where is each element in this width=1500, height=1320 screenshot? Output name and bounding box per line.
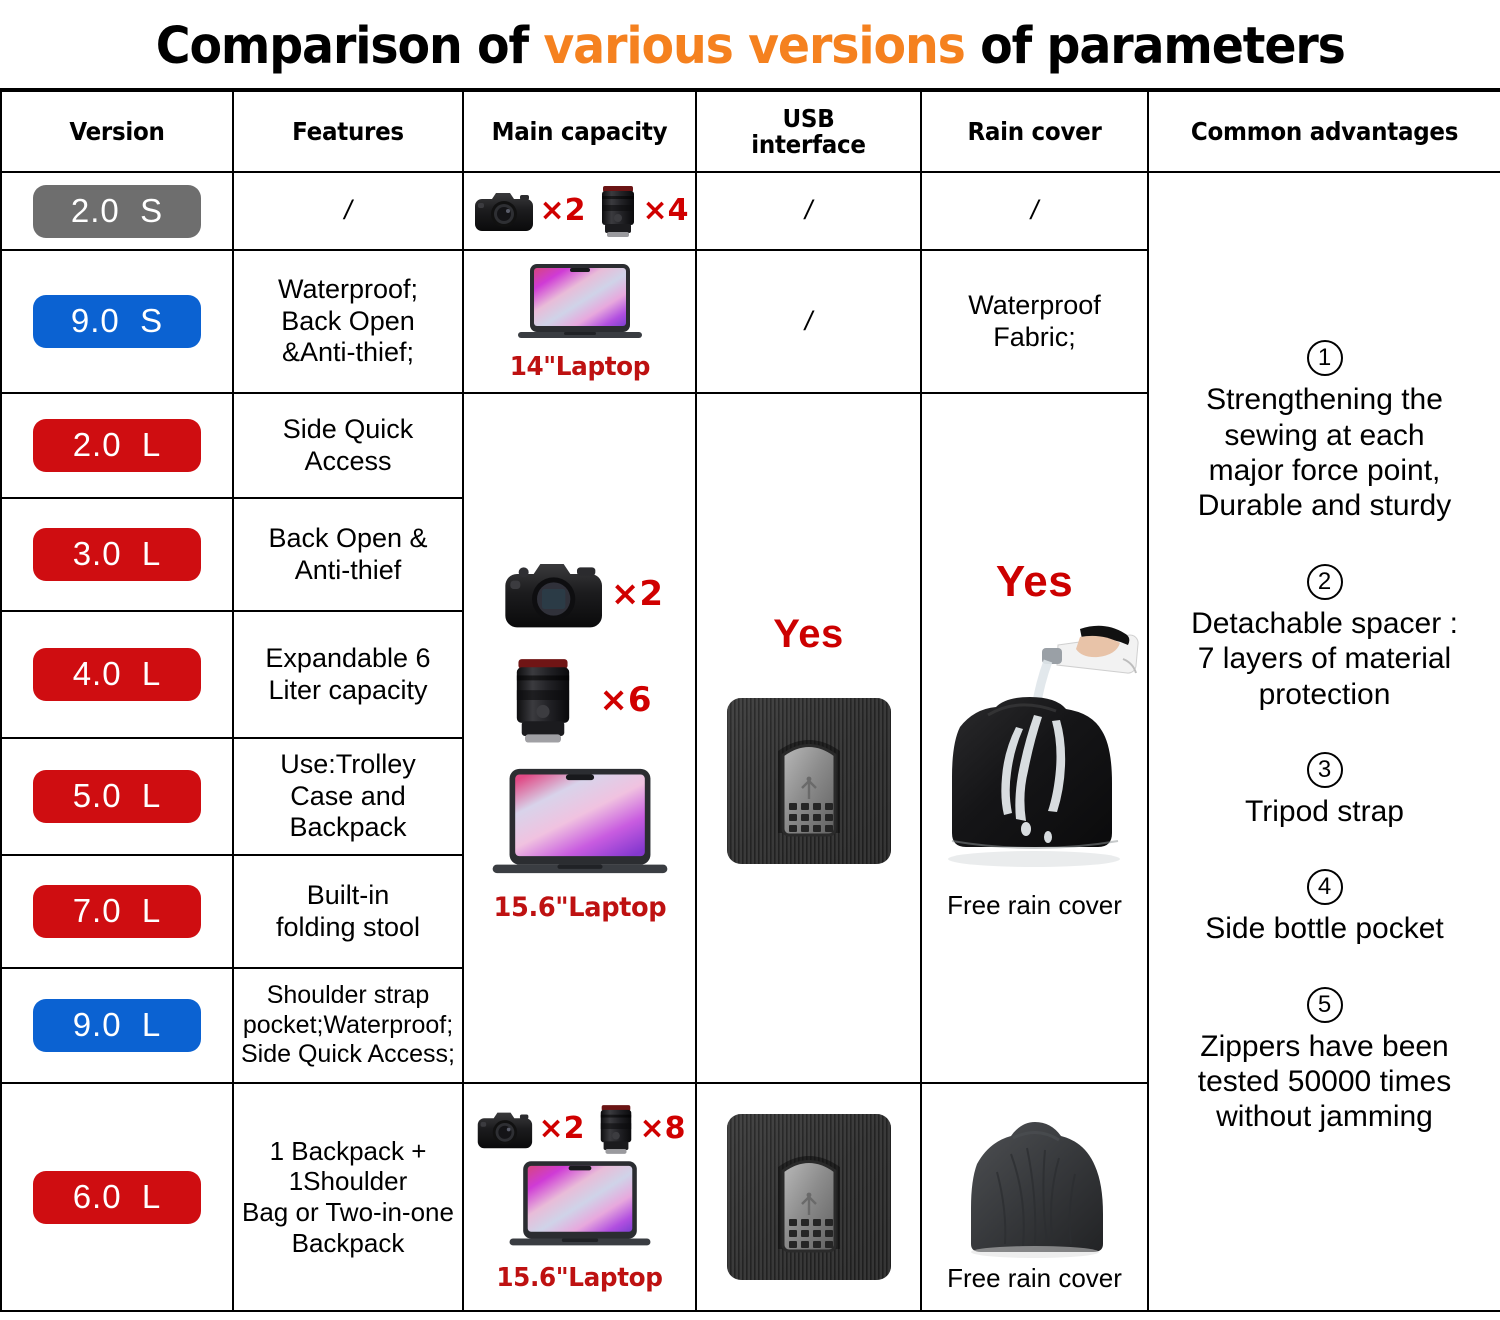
features-cell: Shoulder strap pocket;Waterproof; Side Q… [233,968,463,1083]
version-badge: 9.0 L [33,999,201,1052]
advantage-number: 3 [1307,752,1343,788]
column-header-version: Version [10,90,223,172]
advantage-number: 4 [1307,869,1343,905]
version-badge: 6.0 L [33,1171,201,1224]
advantage-number: 1 [1307,340,1343,376]
advantage-item: 4 Side bottle pocket [1152,869,1497,946]
version-cell: 9.0 S [1,250,233,393]
advantage-item: 2 Detachable spacer : 7 layers of materi… [1152,564,1497,712]
advantage-text: Zippers have been tested 50000 times wit… [1152,1029,1497,1135]
capacity-note: 15.6"Laptop [493,892,666,923]
usb-port-cover-photo [726,697,892,865]
laptop-icon [486,766,674,890]
usb-yes-label: Yes [773,612,843,657]
capacity-item: ×2 [473,1107,584,1152]
features-cell: 1 Backpack + 1Shoulder Bag or Two-in-one… [233,1083,463,1311]
table-row: 2.0 S / [1,172,1500,250]
version-cell: 7.0 L [1,855,233,968]
usb-cell: / [696,250,921,393]
lens-icon [595,1101,637,1157]
version-badge: 7.0 L [33,885,201,938]
advantage-number: 2 [1307,564,1343,600]
rain-cover-photo [951,1102,1119,1262]
capacity-qty: ×2 [538,1114,584,1144]
advantages-cell: 1 Strengthening the sewing at each major… [1148,172,1500,1311]
capacity-item: ×4 [596,182,689,240]
capacity-cell: ×2 [463,172,696,250]
usb-port-cover-photo [726,1113,892,1281]
capacity-item: ×2 [470,187,585,235]
rain-cover-water-photo [930,623,1140,873]
version-cell: 9.0 L [1,968,233,1083]
usb-cell-merged: Yes [696,393,921,1083]
features-cell: Back Open & Anti-thief [233,498,463,611]
column-header-features: Features [242,90,454,172]
capacity-note: 14"Laptop [509,352,649,382]
version-badge: 2.0 L [33,419,201,472]
rain-cell: Free rain cover [921,1083,1148,1311]
advantage-text: Strengthening the sewing at each major f… [1152,382,1497,524]
camera-icon [470,187,536,235]
capacity-note: 15.6"Laptop [496,1263,662,1293]
advantage-text: Tripod strap [1152,794,1497,829]
version-cell: 3.0 L [1,498,233,611]
camera-icon [473,1107,535,1152]
version-badge: 4.0 L [33,648,201,701]
title-part1: Comparison of [155,17,543,76]
advantage-item: 5 Zippers have been tested 50000 times w… [1152,987,1497,1135]
capacity-item: ×2 [496,554,663,634]
version-cell: 6.0 L [1,1083,233,1311]
rain-cover-note: Free rain cover [947,891,1122,920]
lens-icon [596,182,640,240]
rain-cell: / [921,172,1148,250]
advantage-text: Detachable spacer : 7 layers of material… [1152,606,1497,712]
version-cell: 2.0 S [1,172,233,250]
advantage-item: 3 Tripod strap [1152,752,1497,829]
version-cell: 5.0 L [1,738,233,855]
version-cell: 2.0 L [1,393,233,498]
title-part2: of parameters [964,17,1344,76]
version-cell: 4.0 L [1,611,233,738]
header-row: Version Features Main capacity USB inter… [1,90,1500,172]
column-header-advantages: Common advantages [1162,90,1487,172]
advantage-text: Side bottle pocket [1152,911,1497,946]
features-cell: Expandable 6 Liter capacity [233,611,463,738]
column-header-capacity: Main capacity [472,90,686,172]
rain-cover-note: Free rain cover [947,1264,1122,1293]
column-header-rain: Rain cover [930,90,1139,172]
features-cell: Waterproof; Back Open &Anti-thief; [233,250,463,393]
rain-yes-label: Yes [996,557,1073,607]
advantage-number: 5 [1307,987,1343,1023]
features-cell: Use:Trolley Case and Backpack [233,738,463,855]
rain-cell-merged: Yes [921,393,1148,1083]
capacity-qty: ×2 [539,196,585,226]
capacity-cell: ×2 [463,1083,696,1311]
version-badge: 2.0 S [33,185,201,238]
version-badge: 9.0 S [33,295,201,348]
title-highlight: various versions [543,17,964,76]
table-header: Version Features Main capacity USB inter… [1,90,1500,172]
features-cell: Built-in folding stool [233,855,463,968]
features-cell: Side Quick Access [233,393,463,498]
comparison-infographic: Comparison of various versions of parame… [0,0,1500,1320]
capacity-qty: ×4 [643,196,689,226]
capacity-item: ×6 [507,652,651,748]
page-title: Comparison of various versions of parame… [0,0,1500,88]
version-badge: 3.0 L [33,528,201,581]
features-cell: / [233,172,463,250]
capacity-cell-merged: ×2 ×6 [463,393,696,1083]
capacity-item: ×8 [595,1101,686,1157]
version-badge: 5.0 L [33,770,201,823]
capacity-qty: ×8 [640,1114,686,1144]
table-body: 2.0 S / [1,172,1500,1311]
laptop-icon [506,1159,654,1259]
lens-icon [507,652,579,748]
capacity-cell: 14"Laptop [463,250,696,393]
camera-icon [496,554,608,634]
laptop-icon [516,262,644,350]
column-header-usb: USB interface [705,90,912,172]
capacity-qty: ×2 [611,577,663,611]
comparison-table: Version Features Main capacity USB inter… [0,88,1500,1312]
usb-cell: / [696,172,921,250]
rain-cell: Waterproof Fabric; [921,250,1148,393]
usb-cell [696,1083,921,1311]
advantage-item: 1 Strengthening the sewing at each major… [1152,340,1497,524]
capacity-qty: ×6 [599,683,651,717]
